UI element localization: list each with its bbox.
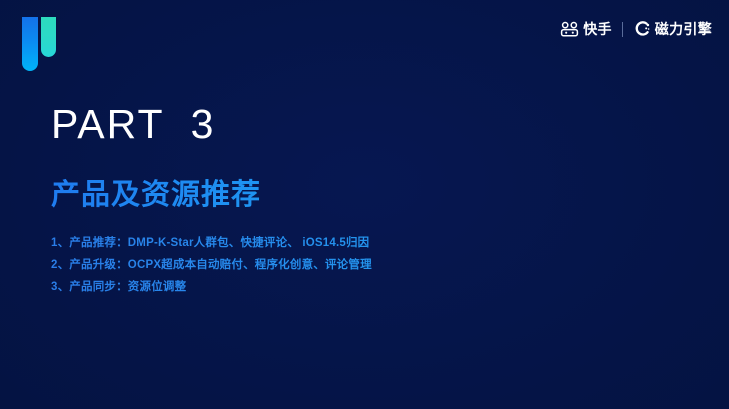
section-heading: 产品及资源推荐 xyxy=(51,145,671,212)
list-item: 2、产品升级：OCPX超成本自动赔付、程序化创意、评论管理 xyxy=(51,254,671,276)
magnetic-engine-logo: 磁力引擎 xyxy=(633,20,712,38)
presentation-slide: 快手 磁力引擎 PART 3 产品及资源推荐 1、产品推荐：DMP-K-Star… xyxy=(0,0,729,409)
part-label: PART 3 xyxy=(51,104,671,145)
agenda-list: 1、产品推荐：DMP-K-Star人群包、快捷评论、 iOS14.5归因 2、产… xyxy=(51,212,671,298)
brand-bar-secondary-icon xyxy=(41,17,56,57)
brand-mark xyxy=(22,17,58,71)
kuaishou-logo: 快手 xyxy=(560,21,612,37)
list-item: 1、产品推荐：DMP-K-Star人群包、快捷评论、 iOS14.5归因 xyxy=(51,232,671,254)
kuaishou-smiley-icon xyxy=(560,21,579,37)
logo-divider xyxy=(622,22,623,37)
brand-bar-primary-icon xyxy=(22,17,38,71)
list-item: 3、产品同步：资源位调整 xyxy=(51,276,671,298)
slide-content: PART 3 产品及资源推荐 1、产品推荐：DMP-K-Star人群包、快捷评论… xyxy=(51,104,671,298)
partner-logos: 快手 磁力引擎 xyxy=(560,19,712,39)
magnetic-engine-wordmark: 磁力引擎 xyxy=(655,22,712,36)
magnetic-engine-c-icon xyxy=(633,20,651,38)
kuaishou-wordmark: 快手 xyxy=(583,22,612,36)
